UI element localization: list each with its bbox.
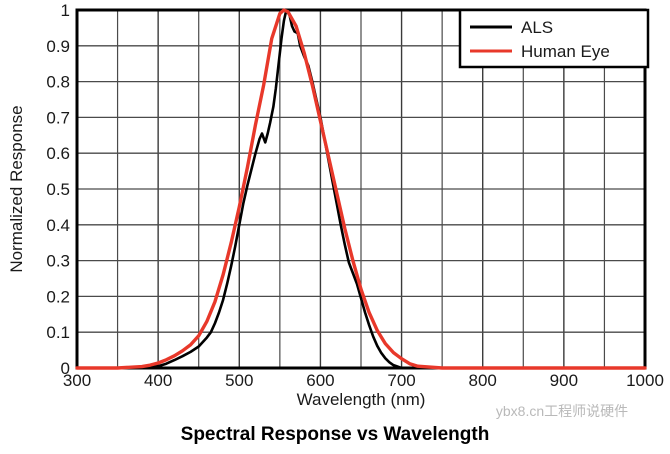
x-tick-label: 400: [144, 371, 172, 390]
y-tick-label: 0.8: [46, 73, 70, 92]
x-tick-label: 600: [306, 371, 334, 390]
watermark-label: ybx8.cn工程师说硬件: [496, 403, 628, 419]
y-tick-label: 0.6: [46, 144, 70, 163]
legend-label-human-eye: Human Eye: [521, 42, 610, 61]
y-tick-label: 0: [61, 359, 70, 378]
y-tick-label: 0.7: [46, 108, 70, 127]
y-tick-label: 0.2: [46, 287, 70, 306]
y-tick-label: 0.5: [46, 180, 70, 199]
y-axis-tick-labels: 00.10.20.30.40.50.60.70.80.91: [46, 1, 70, 378]
x-axis-title: Wavelength (nm): [297, 390, 426, 409]
legend: ALS Human Eye: [460, 10, 648, 67]
y-tick-label: 0.1: [46, 323, 70, 342]
y-tick-label: 1: [61, 1, 70, 20]
y-axis-title: Normalized Response: [7, 105, 26, 272]
chart-title: Spectral Response vs Wavelength: [181, 424, 490, 445]
legend-label-als: ALS: [521, 18, 553, 37]
x-tick-label: 900: [550, 371, 578, 390]
x-tick-label: 800: [469, 371, 497, 390]
x-axis-tick-labels: 3004005006007008009001000: [63, 371, 664, 390]
x-tick-label: 1000: [626, 371, 664, 390]
x-tick-label: 700: [387, 371, 415, 390]
x-tick-label: 500: [225, 371, 253, 390]
chart-canvas: 3004005006007008009001000 00.10.20.30.40…: [0, 0, 670, 454]
y-tick-label: 0.9: [46, 37, 70, 56]
spectral-response-chart: 3004005006007008009001000 00.10.20.30.40…: [0, 0, 670, 454]
y-tick-label: 0.3: [46, 252, 70, 271]
y-tick-label: 0.4: [46, 216, 70, 235]
